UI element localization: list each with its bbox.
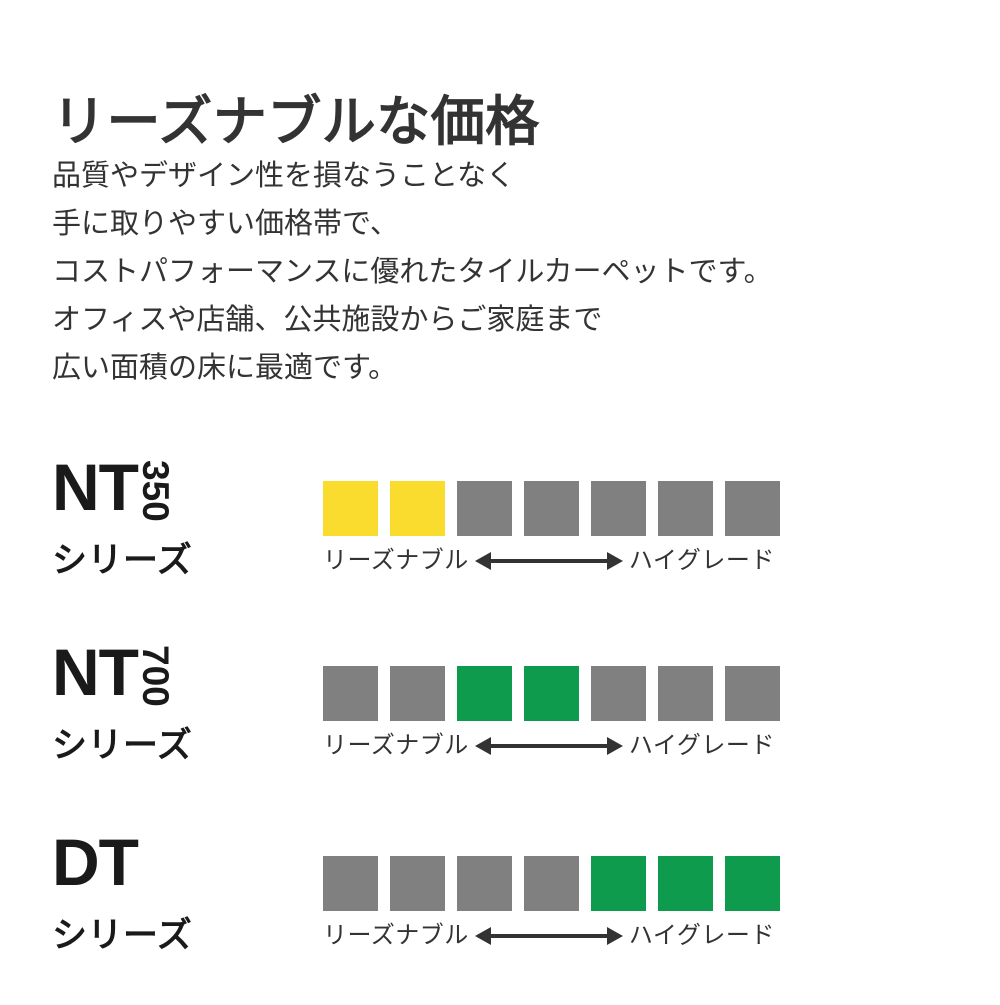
swatch: [457, 666, 512, 721]
arrow-head-right: [607, 552, 623, 570]
series-row-nt700: NT 700 シリーズ リーズナブル ハイグレード: [0, 640, 1000, 815]
series-code: DT: [52, 832, 138, 893]
series-number: 700: [137, 645, 174, 707]
series-code: NT: [52, 457, 138, 518]
scale-low-label: リーズナブル: [323, 734, 469, 758]
swatch: [390, 481, 445, 536]
scale-caption: リーズナブル ハイグレード: [323, 734, 775, 758]
series-label-nt700: NT 700 シリーズ: [52, 640, 282, 770]
arrow-shaft: [487, 559, 611, 563]
swatch: [725, 856, 780, 911]
scale-high-label: ハイグレード: [629, 549, 775, 573]
description-line-1: 品質やデザイン性を損なうことなく: [52, 152, 773, 200]
swatch: [524, 666, 579, 721]
page-root: リーズナブルな価格 品質やデザイン性を損なうことなく 手に取りやすい価格帯で、 …: [0, 0, 1000, 1000]
description-line-4: オフィスや店舗、公共施設からご家庭まで: [52, 296, 773, 344]
swatch: [323, 856, 378, 911]
arrow-head-right: [607, 927, 623, 945]
swatch: [390, 666, 445, 721]
series-label-nt350: NT 350 シリーズ: [52, 455, 282, 585]
swatch: [457, 481, 512, 536]
description-line-5: 広い面積の床に最適です。: [52, 344, 773, 392]
swatch: [658, 481, 713, 536]
series-code: NT: [52, 642, 138, 703]
arrow-shaft: [487, 744, 611, 748]
scale-high-label: ハイグレード: [629, 734, 775, 758]
description-text: 品質やデザイン性を損なうことなく 手に取りやすい価格帯で、 コストパフォーマンス…: [52, 152, 773, 392]
swatch: [524, 481, 579, 536]
scale-caption: リーズナブル ハイグレード: [323, 924, 775, 948]
scale-high-label: ハイグレード: [629, 924, 775, 948]
swatch: [591, 666, 646, 721]
arrow-head-right: [607, 737, 623, 755]
series-sub-label: シリーズ: [52, 532, 192, 583]
swatch-strip-nt350: [323, 481, 780, 536]
swatch: [725, 481, 780, 536]
series-sub-label: シリーズ: [52, 907, 192, 958]
series-name-wrap: DT: [52, 832, 138, 902]
series-name-wrap: NT 700: [52, 642, 236, 712]
description-line-2: 手に取りやすい価格帯で、: [52, 200, 773, 248]
scale-caption: リーズナブル ハイグレード: [323, 549, 775, 573]
swatch: [390, 856, 445, 911]
swatch: [591, 481, 646, 536]
series-label-dt: DT シリーズ: [52, 830, 282, 960]
scale-low-label: リーズナブル: [323, 549, 469, 573]
double-headed-arrow-icon: [475, 551, 623, 571]
double-headed-arrow-icon: [475, 736, 623, 756]
series-sub-label: シリーズ: [52, 717, 192, 768]
series-name-wrap: NT 350: [52, 457, 236, 527]
swatch: [591, 856, 646, 911]
description-line-3: コストパフォーマンスに優れたタイルカーペットです。: [52, 248, 773, 296]
page-title: リーズナブルな価格: [52, 94, 540, 151]
swatch: [457, 856, 512, 911]
swatch-strip-dt: [323, 856, 780, 911]
series-number: 350: [137, 460, 174, 522]
series-row-dt: DT シリーズ リーズナブル ハイグレード: [0, 830, 1000, 1005]
swatch: [323, 481, 378, 536]
swatch: [725, 666, 780, 721]
series-row-nt350: NT 350 シリーズ リーズナブル ハイグレード: [0, 455, 1000, 630]
swatch: [524, 856, 579, 911]
swatch-strip-nt700: [323, 666, 780, 721]
double-headed-arrow-icon: [475, 926, 623, 946]
swatch: [323, 666, 378, 721]
swatch: [658, 856, 713, 911]
swatch: [658, 666, 713, 721]
arrow-shaft: [487, 934, 611, 938]
scale-low-label: リーズナブル: [323, 924, 469, 948]
